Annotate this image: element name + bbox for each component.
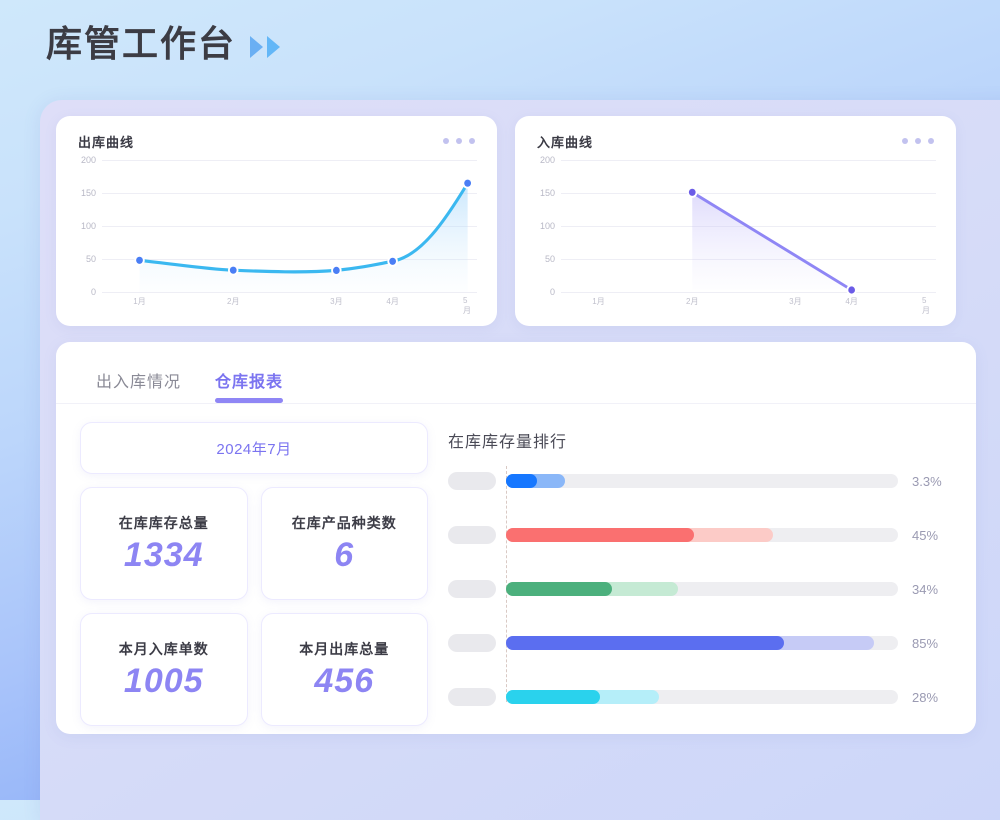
- more-dots-icon[interactable]: [443, 138, 475, 144]
- stat-card-product-types[interactable]: 在库产品种类数 6: [261, 487, 429, 600]
- ranking-label-pill: [448, 580, 496, 598]
- outbound-area-fill: [140, 183, 468, 292]
- outbound-line-series: [102, 160, 477, 292]
- dot: [456, 138, 462, 144]
- dot: [902, 138, 908, 144]
- ranking-title: 在库库存量排行: [448, 428, 952, 452]
- ranking-row[interactable]: 3.3%: [448, 472, 952, 490]
- y-tick: 200: [81, 155, 96, 165]
- y-tick: 50: [86, 254, 96, 264]
- stat-card-outbound-total[interactable]: 本月出库总量 456: [261, 613, 429, 726]
- more-dots-icon[interactable]: [902, 138, 934, 144]
- page-header: 库管工作台: [46, 26, 280, 62]
- dot: [443, 138, 449, 144]
- y-axis-labels-outbound: 200 150 100 50 0: [66, 160, 96, 292]
- stat-label: 本月出库总量: [299, 639, 389, 659]
- ranking-percent: 3.3%: [898, 474, 952, 489]
- ranking-bar-dark: [506, 636, 784, 650]
- x-tick: 5月: [922, 296, 931, 316]
- ranking-bar-track: [506, 528, 898, 542]
- report-tabs: 出入库情况 仓库报表: [56, 342, 976, 404]
- data-point: [136, 257, 143, 264]
- ranking-bar-track: [506, 690, 898, 704]
- ranking-bar-track: [506, 582, 898, 596]
- dot: [915, 138, 921, 144]
- charts-row: 出库曲线 200 150 100 50 0: [56, 116, 976, 326]
- x-tick: 1月: [133, 296, 145, 307]
- ranking-percent: 28%: [898, 690, 952, 705]
- date-label: 2024年7月: [216, 438, 291, 459]
- arrow-right-icon: [250, 36, 263, 58]
- ranking-label-pill: [448, 526, 496, 544]
- y-axis-labels-inbound: 200 150 100 50 0: [525, 160, 555, 292]
- ranking-bar-dark: [506, 690, 600, 704]
- y-tick: 150: [540, 188, 555, 198]
- page-title: 库管工作台: [46, 26, 236, 62]
- y-tick: 100: [81, 221, 96, 231]
- x-axis-labels-inbound: 1月 2月 3月 4月 5月: [561, 296, 936, 310]
- stat-label: 在库产品种类数: [292, 513, 397, 533]
- y-tick: 100: [540, 221, 555, 231]
- x-axis-labels-outbound: 1月 2月 3月 4月 5月: [102, 296, 477, 310]
- outbound-chart-card: 出库曲线 200 150 100 50 0: [56, 116, 497, 326]
- y-tick: 0: [550, 287, 555, 297]
- ranking-column: 在库库存量排行 3.3%: [428, 422, 952, 726]
- stat-value: 1334: [124, 537, 204, 574]
- tab-inbound-outbound-status[interactable]: 出入库情况: [96, 368, 181, 403]
- ranking-percent: 85%: [898, 636, 952, 651]
- data-point: [389, 258, 396, 265]
- dashboard-panel: 出库曲线 200 150 100 50 0: [40, 100, 1000, 820]
- x-tick: 2月: [686, 296, 698, 307]
- ranking-bar-dark: [506, 474, 537, 488]
- y-tick: 200: [540, 155, 555, 165]
- x-tick: 3月: [789, 296, 801, 307]
- y-tick: 150: [81, 188, 96, 198]
- data-point: [464, 180, 471, 187]
- y-tick: 50: [545, 254, 555, 264]
- stats-column: 2024年7月 在库库存总量 1334 在库产品种类数 6 本月入库单数 100…: [80, 422, 428, 726]
- report-body: 2024年7月 在库库存总量 1334 在库产品种类数 6 本月入库单数 100…: [56, 404, 976, 726]
- tab-warehouse-report[interactable]: 仓库报表: [215, 368, 283, 403]
- stat-card-inbound-orders[interactable]: 本月入库单数 1005: [80, 613, 248, 726]
- x-tick: 5月: [463, 296, 472, 316]
- stat-label: 本月入库单数: [119, 639, 209, 659]
- ranking-label-pill: [448, 634, 496, 652]
- data-point: [230, 267, 237, 274]
- ranking-bar-track: [506, 636, 898, 650]
- inbound-chart-card: 入库曲线 200 150 100 50 0: [515, 116, 956, 326]
- ranking-bar-dark: [506, 528, 694, 542]
- stat-card-total-stock[interactable]: 在库库存总量 1334: [80, 487, 248, 600]
- ranking-percent: 34%: [898, 582, 952, 597]
- stat-grid: 在库库存总量 1334 在库产品种类数 6 本月入库单数 1005 本月出库总量…: [80, 487, 428, 726]
- stat-value: 1005: [124, 663, 204, 700]
- inbound-line-series: [561, 160, 936, 292]
- double-right-arrow-icon[interactable]: [250, 30, 280, 58]
- ranking-label-pill: [448, 472, 496, 490]
- data-point: [689, 189, 696, 196]
- y-tick: 0: [91, 287, 96, 297]
- stat-value: 6: [334, 537, 354, 574]
- ranking-bar-dark: [506, 582, 612, 596]
- ranking-row[interactable]: 28%: [448, 688, 952, 706]
- inbound-plot: 200 150 100 50 0: [525, 160, 940, 310]
- stat-label: 在库库存总量: [119, 513, 209, 533]
- ranking-label-pill: [448, 688, 496, 706]
- dot: [928, 138, 934, 144]
- ranking-row[interactable]: 85%: [448, 634, 952, 652]
- dot: [469, 138, 475, 144]
- data-point: [333, 267, 340, 274]
- data-point: [848, 286, 855, 293]
- ranking-bar-track: [506, 474, 898, 488]
- chart-title-inbound: 入库曲线: [537, 132, 593, 151]
- x-tick: 4月: [386, 296, 398, 307]
- stat-value: 456: [314, 663, 374, 700]
- grid-line: [561, 292, 936, 293]
- outbound-plot: 200 150 100 50 0: [66, 160, 481, 310]
- date-selector[interactable]: 2024年7月: [80, 422, 428, 474]
- x-tick: 2月: [227, 296, 239, 307]
- report-panel: 出入库情况 仓库报表 2024年7月 在库库存总量 1334 在库产品种类数 6: [56, 342, 976, 734]
- ranking-row[interactable]: 34%: [448, 580, 952, 598]
- ranking-rows: 3.3% 45%: [448, 472, 952, 706]
- chart-header: 出库曲线: [66, 130, 481, 152]
- chart-title-outbound: 出库曲线: [78, 132, 134, 151]
- x-tick: 4月: [845, 296, 857, 307]
- grid-line: [102, 292, 477, 293]
- ranking-row[interactable]: 45%: [448, 526, 952, 544]
- ranking-percent: 45%: [898, 528, 952, 543]
- chart-header: 入库曲线: [525, 130, 940, 152]
- x-tick: 1月: [592, 296, 604, 307]
- x-tick: 3月: [330, 296, 342, 307]
- arrow-right-icon: [267, 36, 280, 58]
